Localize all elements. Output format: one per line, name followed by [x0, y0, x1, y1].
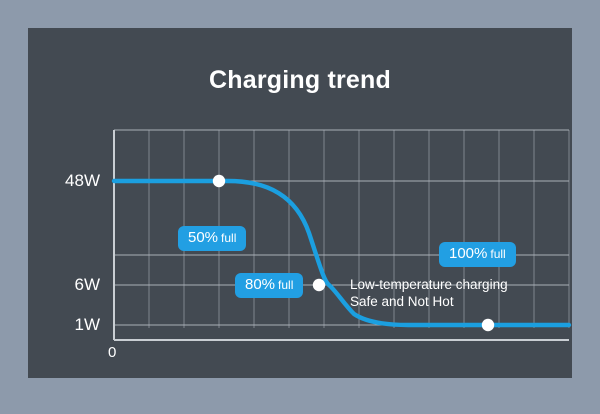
badge-100-percent: 100%full: [439, 242, 516, 267]
charging-curve-layer: [28, 28, 572, 378]
chart-panel: Charging trend: [28, 28, 572, 378]
badge-80-percent-word: full: [278, 278, 293, 292]
badge-80-percent: 80%full: [235, 273, 303, 298]
badge-50-percent-value: 50%: [188, 229, 218, 246]
badge-50-percent-word: full: [221, 231, 236, 245]
data-point-100: [482, 319, 494, 331]
y-tick-6w: 6W: [28, 275, 100, 295]
plot-area: 48W 6W 1W 0 50%full 80%full 100%full Low…: [28, 28, 572, 378]
origin-label: 0: [108, 344, 116, 361]
y-tick-1w: 1W: [28, 315, 100, 335]
screenshot-root: Charging trend: [0, 0, 600, 414]
badge-100-percent-word: full: [490, 247, 505, 261]
data-point-80: [313, 279, 325, 291]
note-line-1: Low-temperature charging: [350, 276, 508, 293]
y-tick-48w: 48W: [28, 171, 100, 191]
badge-80-percent-value: 80%: [245, 276, 275, 293]
badge-50-percent: 50%full: [178, 226, 246, 251]
badge-100-percent-value: 100%: [449, 245, 487, 262]
note-line-2: Safe and Not Hot: [350, 293, 454, 310]
data-point-50: [213, 175, 225, 187]
